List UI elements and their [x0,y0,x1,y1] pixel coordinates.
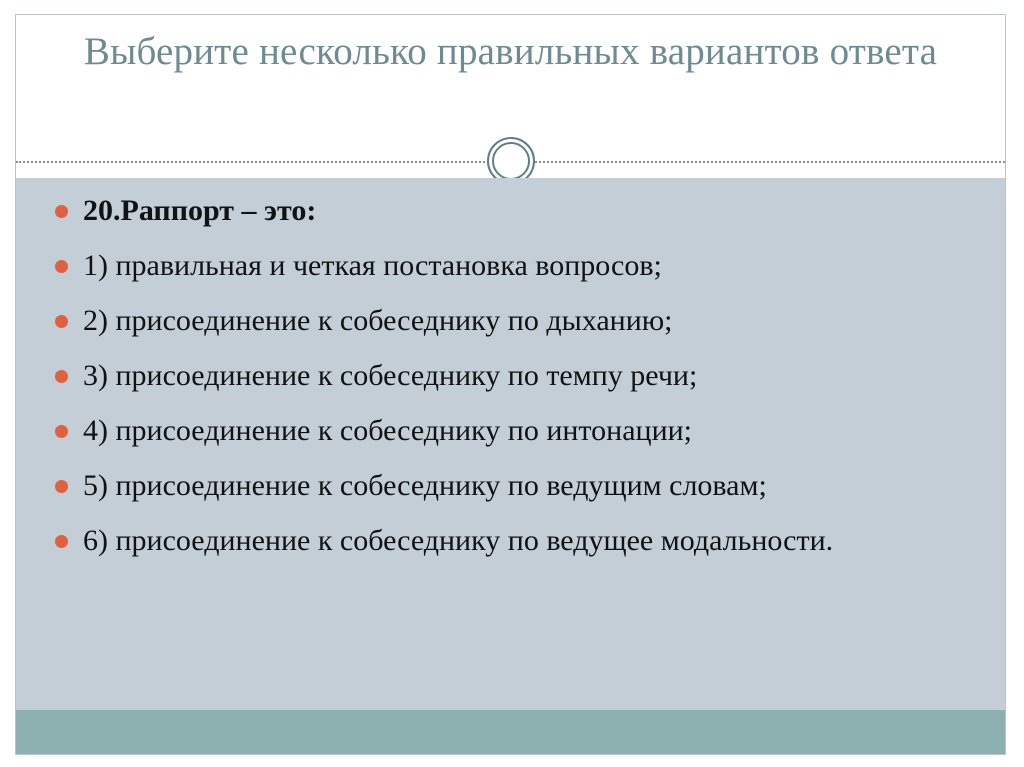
bullet-dot-icon [55,205,68,218]
list-item: 3) присоединение к собеседнику по темпу … [38,352,969,399]
footer-accent-bar [16,710,1005,754]
bullet-dot-icon [55,535,68,548]
list-item: 6) присоединение к собеседнику по ведуще… [38,517,969,564]
list-item-label: 2) присоединение к собеседнику по дыхани… [83,304,673,337]
list-item: 4) присоединение к собеседнику по интона… [38,407,969,454]
bullet-dot-icon [55,425,68,438]
list-item: 2) присоединение к собеседнику по дыхани… [38,297,969,344]
list-item-label: 4) присоединение к собеседнику по интона… [83,414,692,447]
header-divider [16,148,1005,178]
presentation-slide: Выберите несколько правильных вариантов … [15,14,1006,755]
bullet-dot-icon [55,315,68,328]
list-item-label: 3) присоединение к собеседнику по темпу … [83,359,697,392]
list-item-label: 6) присоединение к собеседнику по ведуще… [83,524,833,557]
page-title: Выберите несколько правильных вариантов … [56,25,966,78]
list-item: 5) присоединение к собеседнику по ведущи… [38,462,969,509]
bullet-dot-icon [55,370,68,383]
list-item: 1) правильная и четкая постановка вопрос… [38,242,969,289]
bullet-list: 20.Раппорт – это:1) правильная и четкая … [38,187,969,564]
list-item-label: 1) правильная и четкая постановка вопрос… [83,249,662,282]
list-item: 20.Раппорт – это: [38,187,969,234]
list-item-label: 5) присоединение к собеседнику по ведущи… [83,469,767,502]
slide-body: 20.Раппорт – это:1) правильная и четкая … [16,178,1005,710]
bullet-dot-icon [55,480,68,493]
bullet-dot-icon [55,260,68,273]
list-item-label: 20.Раппорт – это: [83,194,316,227]
slide-header: Выберите несколько правильных вариантов … [16,15,1005,148]
